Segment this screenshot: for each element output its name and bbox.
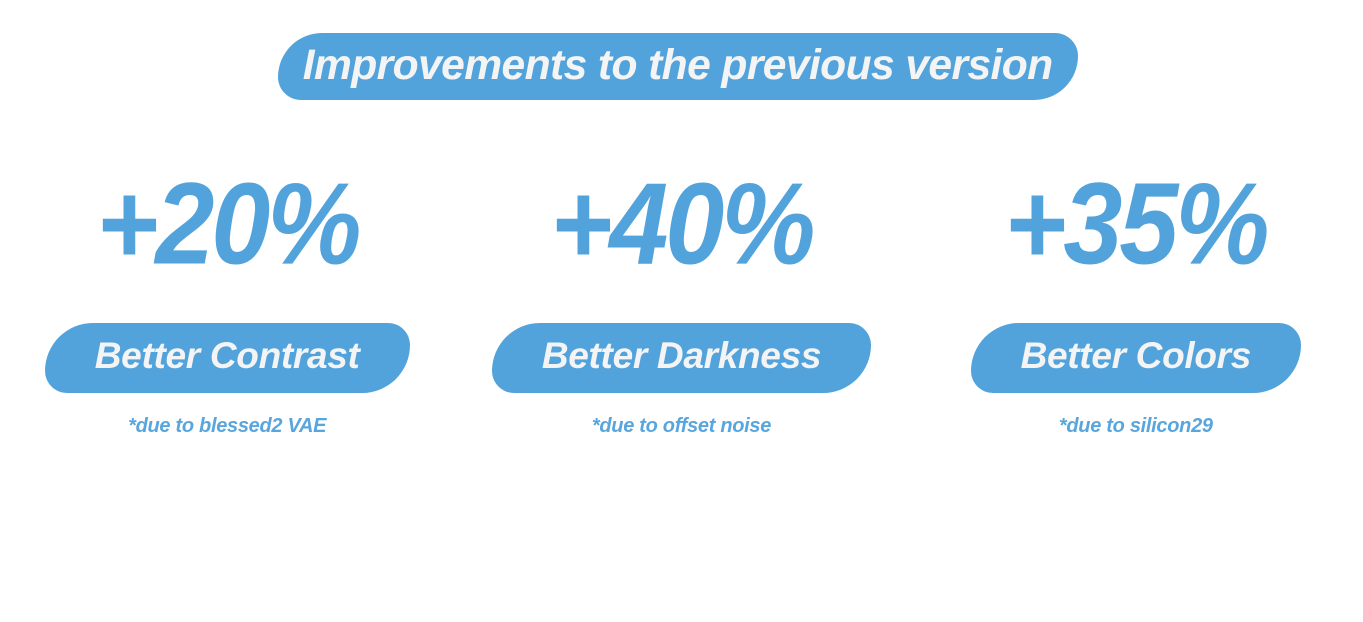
stat-percent-value: +20% (96, 162, 358, 287)
stat-footnote: *due to blessed2 VAE (128, 415, 326, 438)
stat-label-pill: Better Contrast (45, 323, 410, 393)
stat-percent-value: +40% (550, 162, 812, 287)
stat-label-text: Better Colors (1021, 335, 1251, 377)
stat-label-pill: Better Darkness (492, 323, 871, 393)
stat-label-text: Better Contrast (95, 335, 360, 377)
stat-footnote: *due to offset noise (592, 415, 771, 438)
stat-label-text: Better Darkness (542, 335, 821, 377)
stats-row: +20% Better Contrast *due to blessed2 VA… (0, 175, 1363, 475)
title-badge-shape: Improvements to the previous version (278, 33, 1078, 100)
stat-footnote: *due to silicon29 (1059, 415, 1213, 438)
stat-column-colors: +35% Better Colors *due to silicon29 (909, 175, 1363, 438)
page-title: Improvements to the previous version (303, 41, 1053, 90)
stat-percent-value: +35% (1005, 162, 1267, 287)
stat-label-pill: Better Colors (971, 323, 1301, 393)
title-banner: Improvements to the previous version (278, 33, 1078, 100)
infographic-root: Improvements to the previous version +20… (0, 0, 1363, 622)
stat-column-darkness: +40% Better Darkness *due to offset nois… (454, 175, 908, 438)
stat-column-contrast: +20% Better Contrast *due to blessed2 VA… (0, 175, 454, 438)
